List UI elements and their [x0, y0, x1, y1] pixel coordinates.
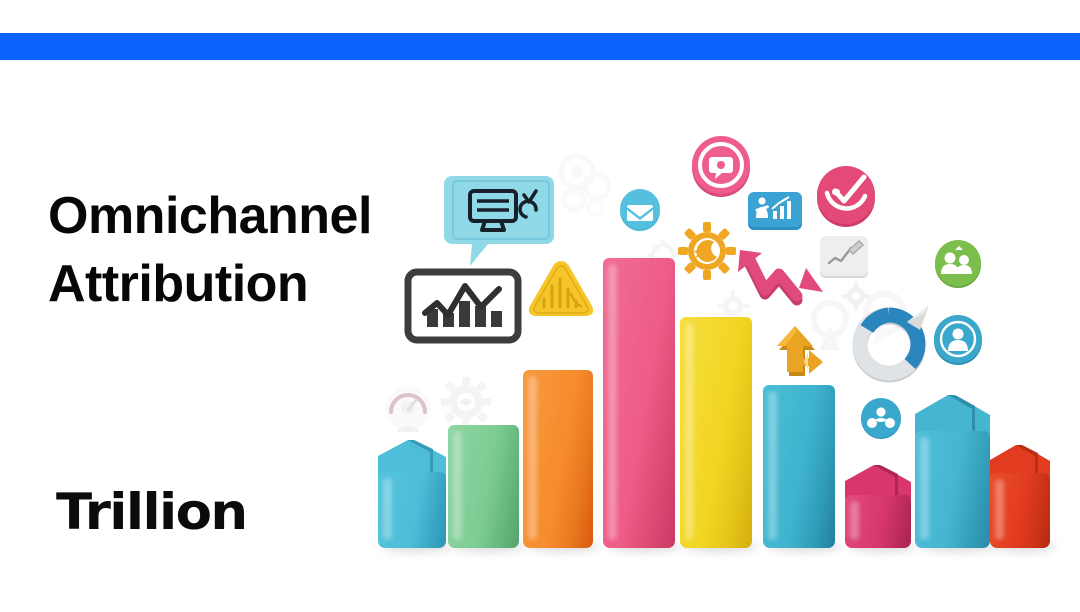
bar-gloss — [995, 479, 1004, 540]
screen-chat-bubble-icon — [444, 170, 554, 270]
chart-bar-3 — [523, 370, 593, 548]
check-circle-icon — [815, 165, 877, 227]
bar-peak — [915, 395, 990, 435]
team-small-circle-icon — [859, 396, 903, 440]
chart-bar-7 — [845, 465, 911, 548]
bar-body — [915, 431, 990, 548]
bar-peak — [845, 465, 911, 499]
yellow-triangle-chart-icon — [524, 257, 598, 327]
bar-body — [763, 385, 835, 548]
title-line-2: Attribution — [48, 250, 408, 318]
envelope-circle-icon — [618, 189, 662, 233]
bar-body — [603, 258, 675, 548]
bar-gloss — [850, 501, 859, 540]
chart-bar-1 — [378, 440, 446, 548]
bar-body — [378, 472, 446, 548]
chart-bar-5 — [680, 317, 752, 548]
gauge-person-ghost-icon — [378, 382, 438, 440]
chart-bar-6 — [763, 385, 835, 548]
bar-body — [990, 473, 1050, 548]
bar-peak — [378, 440, 446, 476]
bar-gloss — [453, 431, 462, 540]
slide-canvas: Omnichannel Attribution Trillion — [0, 0, 1080, 612]
bar-body — [680, 317, 752, 548]
gear-moon-icon — [678, 222, 736, 280]
bar-gloss — [608, 264, 617, 540]
chart-bar-8 — [915, 395, 990, 548]
brand-logo: Trillion — [56, 484, 236, 540]
gear-ghost-icon — [440, 376, 492, 428]
people-circle-icon — [933, 239, 983, 289]
chart-bar-2 — [448, 425, 519, 548]
user-circle-icon — [932, 313, 984, 365]
chart-bar-4 — [603, 258, 675, 548]
bar-gloss — [383, 478, 392, 540]
note-pen-tile-icon — [818, 234, 870, 282]
title-line-1: Omnichannel — [48, 182, 408, 250]
chat-target-circle-icon — [690, 135, 752, 197]
donut-arrow-icon — [849, 300, 931, 382]
gear-cluster-ghost-icon — [553, 152, 617, 226]
bar-body — [845, 495, 911, 548]
bar-body — [448, 425, 519, 548]
bar-chart-frame-icon — [403, 267, 525, 349]
bar-gloss — [685, 323, 694, 540]
bar-gloss — [528, 376, 537, 540]
bar-gloss — [768, 391, 777, 540]
up-arrow-3d-icon — [775, 322, 833, 384]
chart-bar-9 — [990, 445, 1050, 548]
bar-gloss — [920, 437, 929, 540]
person-chart-tile-icon — [748, 192, 802, 230]
zigzag-arrow-icon — [735, 248, 827, 320]
logo-wordmark: Trillion — [56, 484, 247, 540]
bar-body — [523, 370, 593, 548]
page-title: Omnichannel Attribution — [48, 182, 408, 318]
